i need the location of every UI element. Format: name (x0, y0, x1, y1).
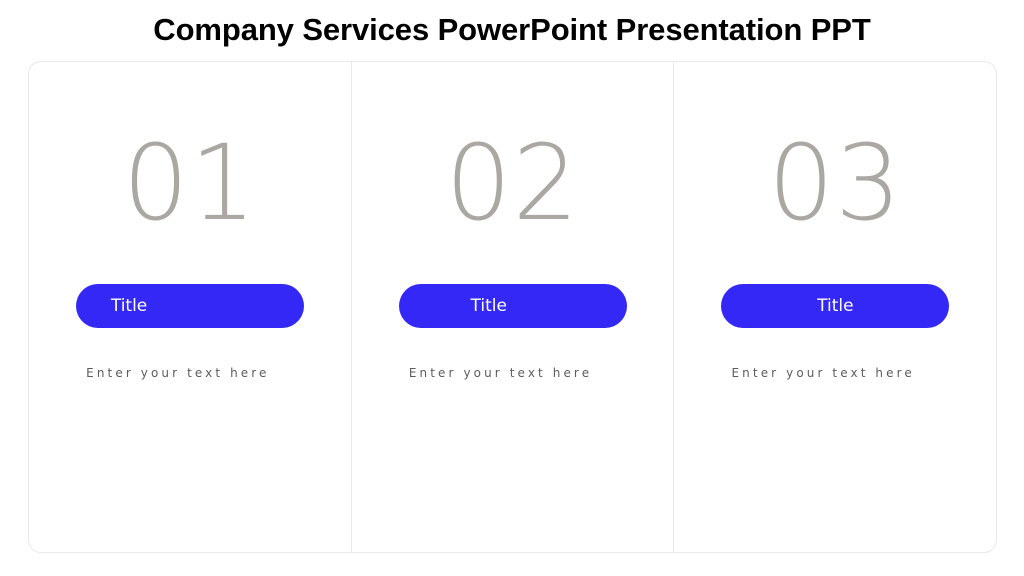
card-caption-1: Enter your text here (29, 365, 351, 381)
three-column-card-group: 01 Title Enter your text here 02 Title E… (28, 61, 997, 553)
card-caption-3: Enter your text here (674, 365, 996, 381)
service-card-3: 03 Title Enter your text here (673, 62, 996, 552)
service-card-1: 01 Title Enter your text here (29, 62, 351, 552)
card-number-02: 02 (352, 131, 674, 235)
card-title-button-2[interactable]: Title (399, 284, 627, 328)
card-caption-2: Enter your text here (352, 365, 674, 381)
page-title: Company Services PowerPoint Presentation… (0, 11, 1024, 49)
service-card-2: 02 Title Enter your text here (351, 62, 674, 552)
card-button-container-3: Title (674, 284, 996, 328)
presentation-slide: Company Services PowerPoint Presentation… (0, 0, 1024, 576)
card-number-03: 03 (674, 131, 996, 235)
card-title-button-1[interactable]: Title (76, 284, 304, 328)
card-title-button-3[interactable]: Title (721, 284, 949, 328)
card-button-container-1: Title (29, 284, 351, 328)
card-button-container-2: Title (352, 284, 674, 328)
card-number-01: 01 (29, 131, 351, 235)
